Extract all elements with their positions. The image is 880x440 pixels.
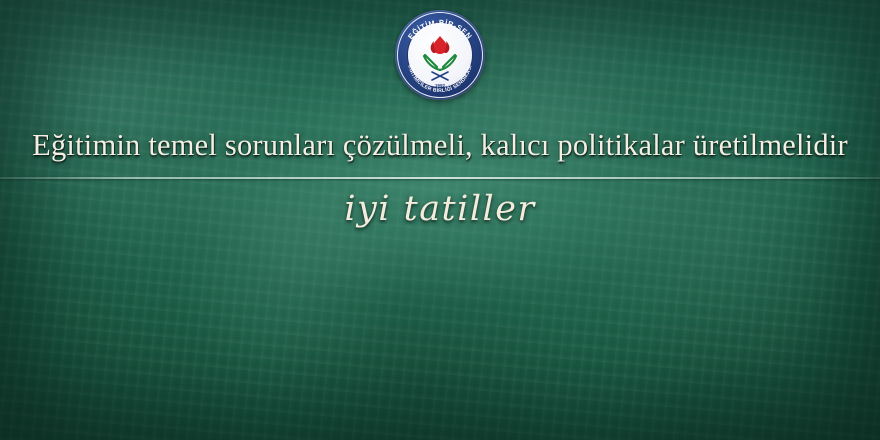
ribbon-cross bbox=[432, 72, 448, 80]
subheadline: iyi tatiller bbox=[0, 189, 880, 229]
photo-strip bbox=[0, 246, 880, 440]
wheat-icon bbox=[424, 55, 456, 70]
logo-bottom-arc-text: EĞİTİMCİLER BİRLİĞİ SENDİKASI bbox=[406, 64, 473, 94]
headline: Eğitimin temel sorunları çözülmeli, kalı… bbox=[0, 128, 880, 163]
logo-badge: EĞİTİM-BİR-SEN EĞİTİMCİLER BİRLİĞİ SENDİ… bbox=[395, 10, 485, 100]
logo-artwork: EĞİTİM-BİR-SEN EĞİTİMCİLER BİRLİĞİ SENDİ… bbox=[395, 10, 485, 100]
egitim-bir-sen-logo[interactable]: EĞİTİM-BİR-SEN EĞİTİMCİLER BİRLİĞİ SENDİ… bbox=[395, 10, 485, 100]
logo-year: 1992 bbox=[435, 83, 446, 88]
divider-rule bbox=[0, 177, 880, 179]
flame-icon bbox=[431, 36, 450, 54]
banner-root: EĞİTİM-BİR-SEN EĞİTİMCİLER BİRLİĞİ SENDİ… bbox=[0, 0, 880, 440]
